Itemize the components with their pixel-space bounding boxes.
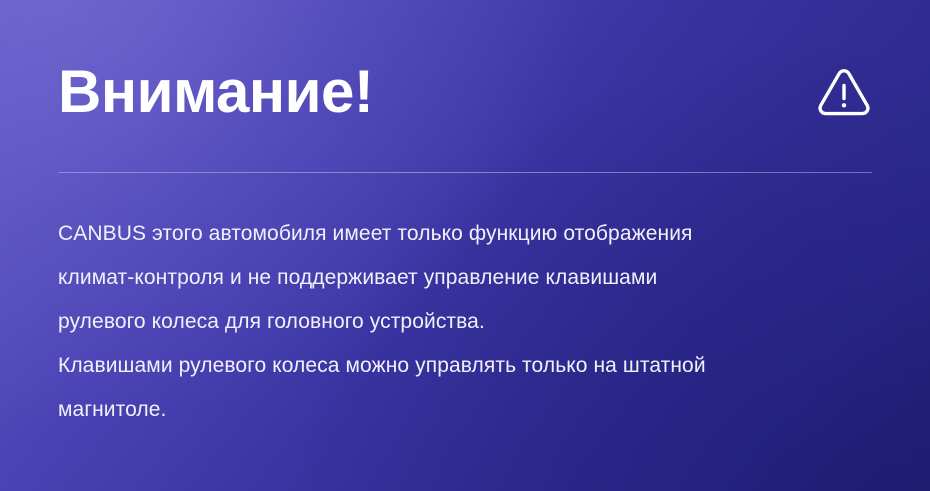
header-divider: [58, 172, 872, 173]
banner-body: CANBUS этого автомобиля имеет только фун…: [58, 212, 878, 432]
warning-triangle-icon: [816, 64, 872, 120]
body-line: Клавишами рулевого колеса можно управлят…: [58, 344, 878, 388]
body-line: рулевого колеса для головного устройства…: [58, 300, 878, 344]
body-line: CANBUS этого автомобиля имеет только фун…: [58, 212, 878, 256]
page-title: Внимание!: [58, 58, 373, 126]
body-line: магнитоле.: [58, 388, 878, 432]
warning-banner: Внимание! CANBUS этого автомобиля имеет …: [0, 0, 930, 491]
body-line: климат-контроля и не поддерживает управл…: [58, 256, 878, 300]
banner-header: Внимание!: [58, 52, 872, 132]
